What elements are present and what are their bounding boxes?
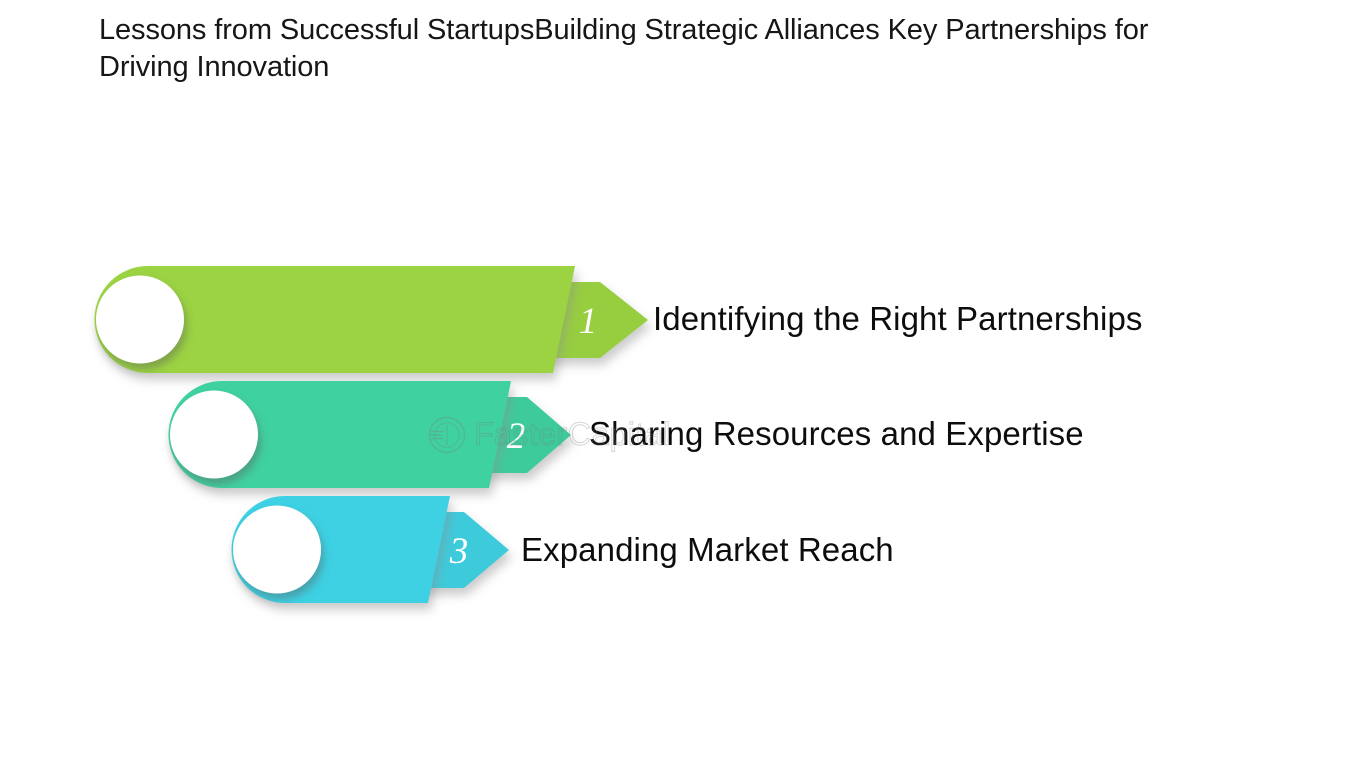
step-3-circle-marker bbox=[233, 506, 321, 594]
slide-canvas: Lessons from Successful StartupsBuilding… bbox=[0, 0, 1350, 759]
funnel-diagram: 1 2 bbox=[0, 0, 1350, 759]
step-2-number: 2 bbox=[507, 416, 526, 457]
funnel-step-2[interactable]: 2 bbox=[169, 381, 572, 488]
step-1-circle-marker bbox=[96, 276, 184, 364]
step-3-label: Expanding Market Reach bbox=[521, 532, 894, 568]
funnel-step-1[interactable]: 1 bbox=[94, 266, 648, 373]
funnel-step-3[interactable]: 3 bbox=[232, 496, 510, 603]
step-1-number: 1 bbox=[579, 301, 598, 342]
step-2-circle-marker bbox=[170, 391, 258, 479]
step-1-label: Identifying the Right Partnerships bbox=[653, 301, 1143, 337]
step-2-label: Sharing Resources and Expertise bbox=[589, 416, 1084, 452]
step-3-number: 3 bbox=[449, 531, 469, 572]
funnel-svg: 1 2 bbox=[0, 0, 1350, 759]
